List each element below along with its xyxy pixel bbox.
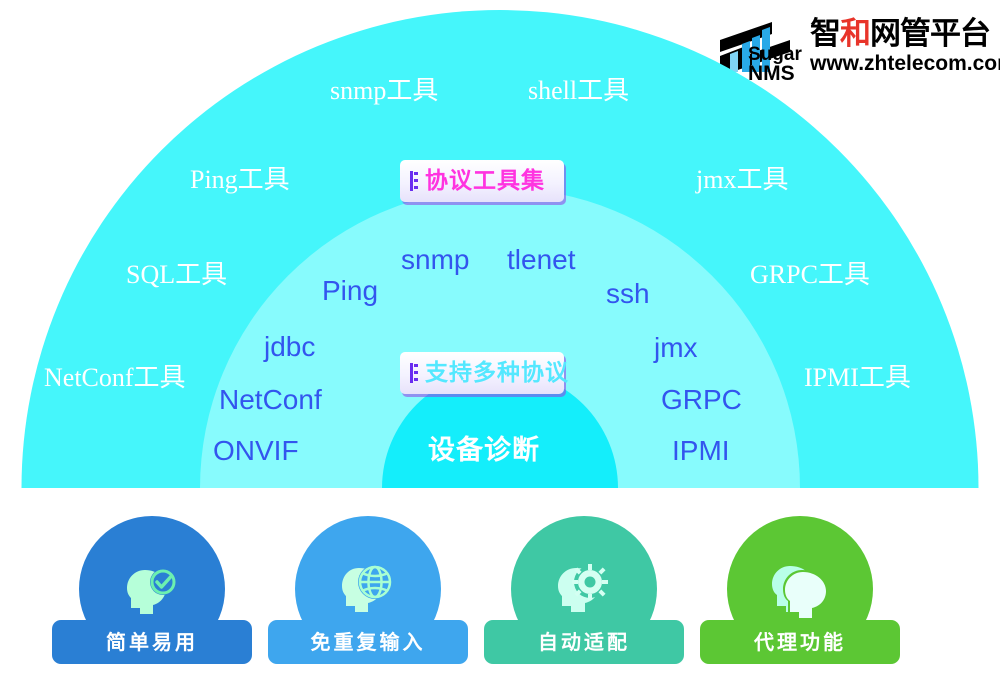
core-label-device-diagnosis: 设备诊断	[428, 437, 540, 464]
protocol-ipmi: IPMI	[672, 437, 730, 465]
protocol-onvif: ONVIF	[213, 437, 299, 465]
protocol-ping: Ping	[322, 277, 378, 305]
outer-tool-ping: Ping工具	[190, 167, 290, 193]
feature-label-2: 免重复输入	[311, 632, 426, 652]
outer-tool-grpc: GRPC工具	[750, 262, 870, 288]
feature-pill-1[interactable]: 简单易用	[52, 620, 252, 664]
badge-protocol-toolset-label: 协议工具集	[425, 170, 545, 193]
protocol-jmx: jmx	[654, 334, 698, 362]
outer-tool-sql: SQL工具	[126, 262, 227, 288]
badge-multi-protocol-support: 支持多种协议	[400, 352, 564, 394]
protocol-tlenet: tlenet	[507, 246, 576, 274]
feature-item-agent-function[interactable]: 代理功能	[700, 516, 900, 664]
feature-label-4: 代理功能	[754, 632, 846, 652]
outer-tool-snmp: snmp工具	[330, 78, 438, 104]
protocol-ssh: ssh	[606, 280, 650, 308]
feature-label-1: 简单易用	[106, 632, 198, 652]
badge-protocol-toolset: 协议工具集	[400, 160, 564, 202]
head-with-gear-icon	[547, 552, 621, 626]
protocol-netconf: NetConf	[219, 386, 322, 414]
feature-pill-3[interactable]: 自动适配	[484, 620, 684, 664]
outer-tool-shell: shell工具	[528, 78, 629, 104]
outer-tool-jmx: jmx工具	[696, 167, 788, 193]
feature-label-3: 自动适配	[538, 632, 630, 652]
feature-item-auto-adapt[interactable]: 自动适配	[484, 516, 684, 664]
head-with-globe-icon	[331, 552, 405, 626]
protocol-snmp: snmp	[401, 246, 469, 274]
protocol-arc-diagram: snmp工具 shell工具 Ping工具 jmx工具 SQL工具 GRPC工具…	[0, 0, 1000, 492]
head-with-check-icon	[115, 552, 189, 626]
feature-pill-2[interactable]: 免重复输入	[268, 620, 468, 664]
feature-item-no-repeat-input[interactable]: 免重复输入	[268, 516, 468, 664]
feature-item-simple-to-use[interactable]: 简单易用	[52, 516, 252, 664]
protocol-grpc: GRPC	[661, 386, 742, 414]
feature-pill-4[interactable]: 代理功能	[700, 620, 900, 664]
badge-multi-protocol-support-label: 支持多种协议	[425, 362, 569, 385]
outer-tool-netconf: NetConf工具	[44, 365, 186, 391]
outer-tool-ipmi: IPMI工具	[804, 365, 911, 391]
protocol-jdbc: jdbc	[264, 333, 315, 361]
feature-highlights-row: 简单易用 免重复输入	[0, 516, 1000, 666]
two-heads-icon	[763, 552, 837, 626]
